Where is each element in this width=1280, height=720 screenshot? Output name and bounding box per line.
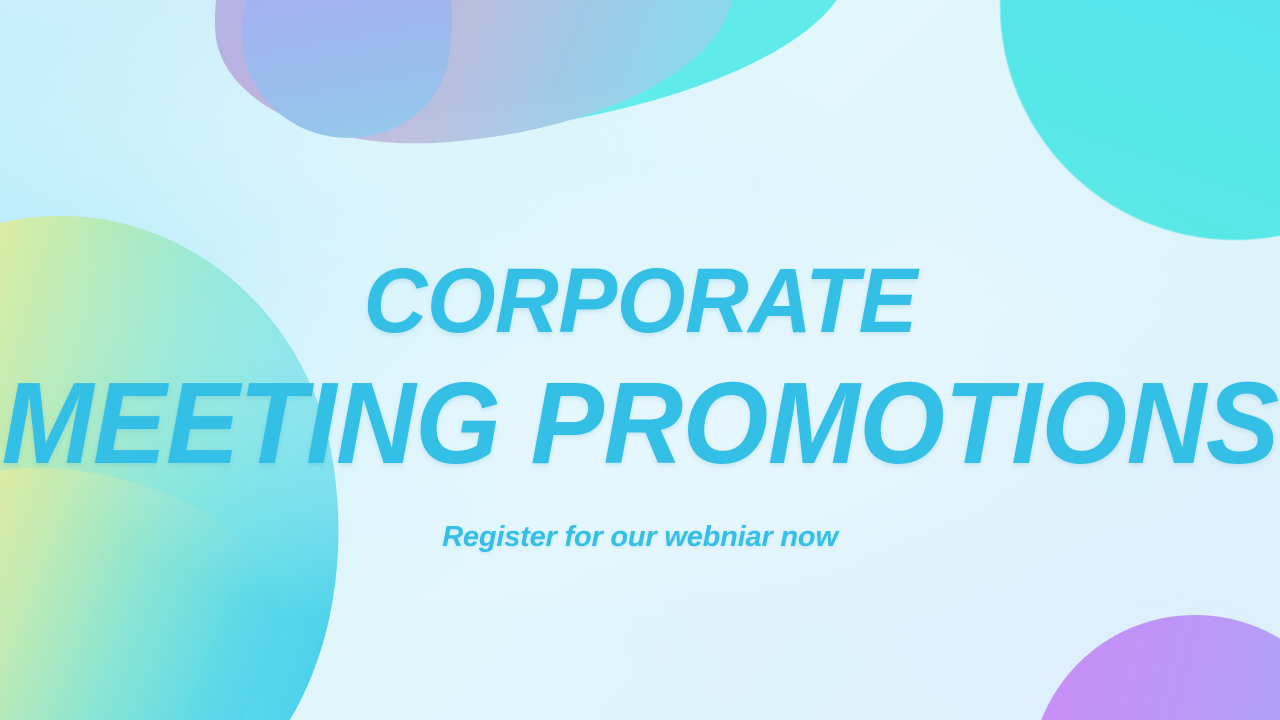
headline-line-1: CORPORATE xyxy=(363,255,916,347)
headline-line-2: MEETING PROMOTIONS xyxy=(1,365,1278,481)
poster-subtitle: Register for our webniar now xyxy=(442,521,838,554)
promotional-poster: CORPORATE MEETING PROMOTIONS Register fo… xyxy=(0,0,1280,720)
poster-content: CORPORATE MEETING PROMOTIONS Register fo… xyxy=(0,0,1280,720)
